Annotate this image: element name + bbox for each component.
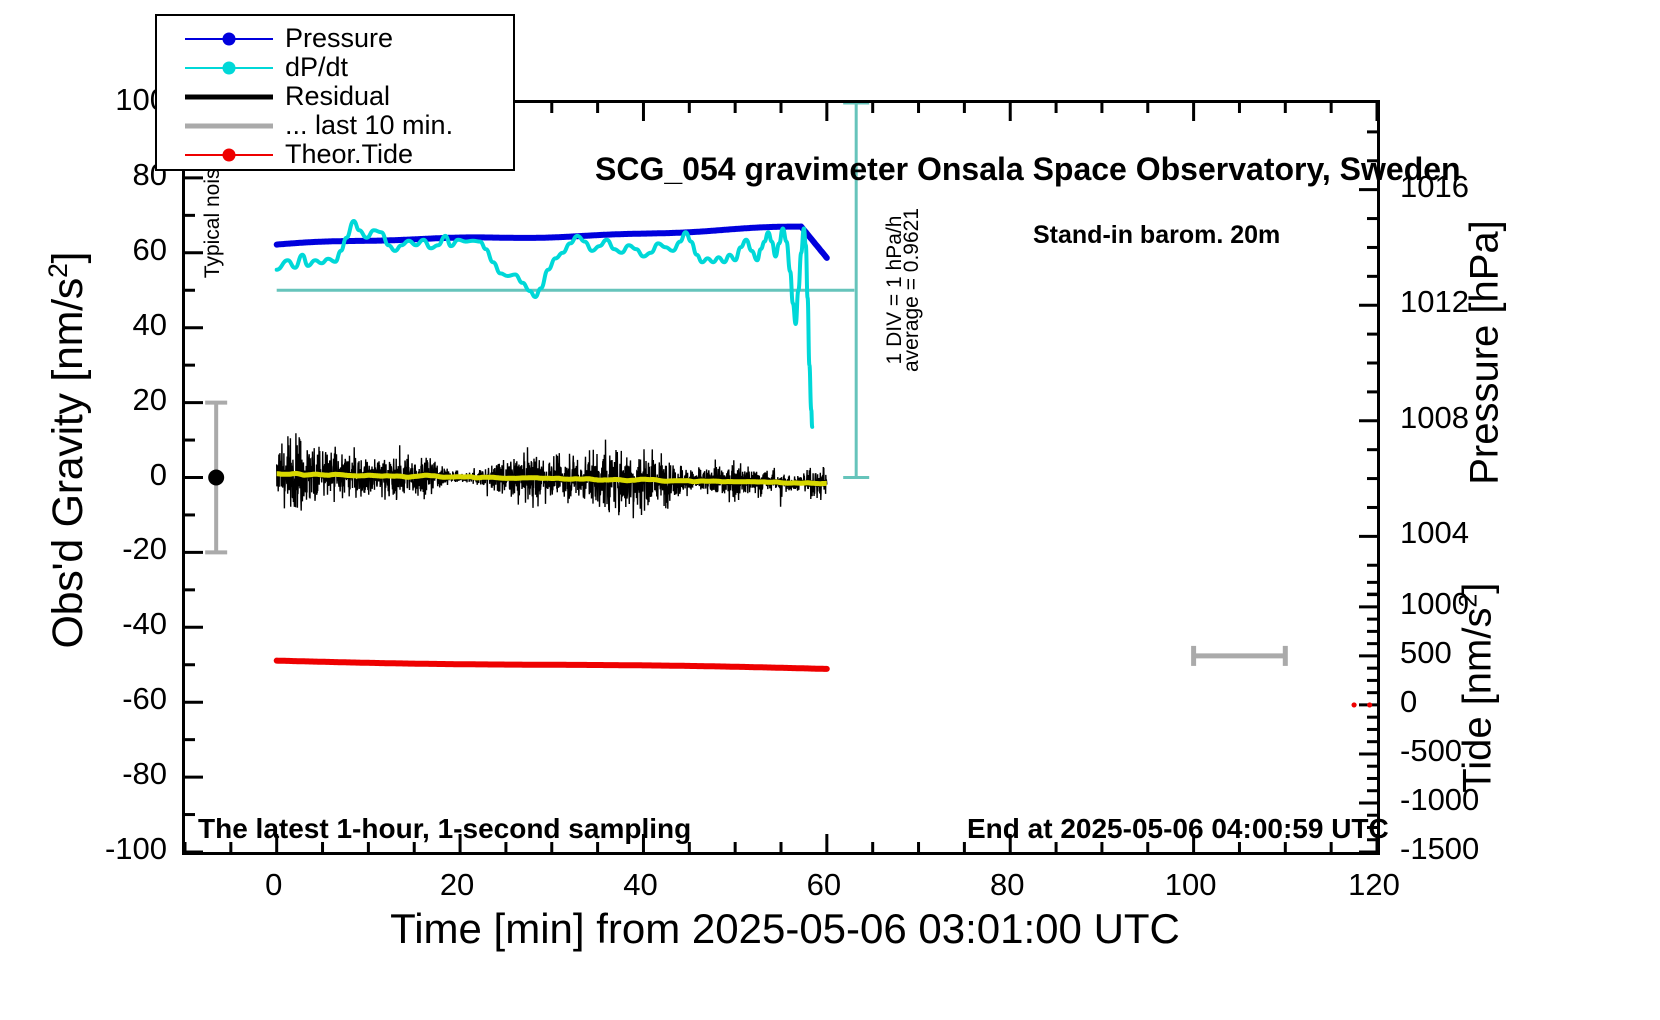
y-ticklabel-left: -20 — [62, 531, 167, 567]
legend-item-label: ... last 10 min. — [285, 110, 453, 141]
chart-title: SCG_054 gravimeter Onsala Space Observat… — [595, 151, 1461, 188]
x-ticklabel: 100 — [1165, 867, 1217, 903]
noise-center-dot — [208, 470, 224, 486]
plot-area: SCG_054 gravimeter Onsala Space Observat… — [182, 100, 1380, 855]
legend-item-dp-dt[interactable]: dP/dt — [157, 53, 513, 82]
legend-item-pressure[interactable]: Pressure — [157, 24, 513, 53]
x-ticklabel: 0 — [265, 867, 282, 903]
y-ticklabel-right-pressure: 1004 — [1400, 515, 1469, 551]
x-axis-title-text: Time [min] from 2025-05-06 03:01:00 UTC — [390, 905, 1180, 952]
legend-marker-icon — [223, 61, 236, 74]
y-ticklabel-right-tide: -1000 — [1400, 782, 1479, 818]
y-ticklabel-right-tide: 1000 — [1400, 586, 1469, 622]
y-ticklabel-left: 100 — [62, 82, 167, 118]
series-dpdt — [277, 221, 813, 427]
x-ticklabel: 60 — [807, 867, 841, 903]
legend-swatch-icon — [185, 24, 273, 53]
y-ticklabel-right-tide: 500 — [1400, 635, 1452, 671]
y-ticklabel-left: -100 — [62, 831, 167, 867]
sampling-note: The latest 1-hour, 1-second sampling — [198, 813, 691, 845]
legend[interactable]: PressuredP/dtResidual... last 10 min.The… — [155, 14, 515, 171]
legend-item-residual[interactable]: Residual — [157, 82, 513, 111]
legend-swatch-icon — [185, 140, 273, 169]
y-ticklabel-left: 20 — [62, 382, 167, 418]
y-ticklabel-left: 60 — [62, 232, 167, 268]
legend-item-theor-tide[interactable]: Theor.Tide — [157, 140, 513, 169]
dpdt-average-label: average = 0.9621 — [900, 175, 924, 405]
y-ticklabel-left: -40 — [62, 606, 167, 642]
y-ticklabel-right-tide: -1500 — [1400, 831, 1479, 867]
legend-swatch-icon — [185, 111, 273, 140]
legend-item-label: Residual — [285, 81, 390, 112]
y-axis-right-pressure-title-text: Pressure [hPa] — [1463, 220, 1507, 485]
y-ticklabel-left: -60 — [62, 681, 167, 717]
tide-zero-marker-a — [1351, 702, 1356, 707]
legend-swatch-icon — [185, 82, 273, 111]
legend-line-icon — [185, 94, 273, 99]
y-ticklabel-left: -80 — [62, 756, 167, 792]
end-time-note: End at 2025-05-06 04:00:59 UTC — [967, 813, 1389, 845]
standin-barom-annotation: Stand-in barom. 20m — [1033, 221, 1280, 250]
y-ticklabel-right-pressure: 1012 — [1400, 284, 1469, 320]
y-ticklabel-right-pressure: 1008 — [1400, 400, 1469, 436]
data-plot-svg — [185, 103, 1377, 852]
series-theor-tide — [277, 661, 827, 669]
y-ticklabel-left: 40 — [62, 307, 167, 343]
legend-item-last-10-min[interactable]: ... last 10 min. — [157, 111, 513, 140]
x-ticklabel: 20 — [440, 867, 474, 903]
tide-zero-marker-b — [1367, 702, 1372, 707]
y-ticklabel-right-tide: 0 — [1400, 684, 1417, 720]
x-axis-title: Time [min] from 2025-05-06 03:01:00 UTC — [180, 905, 1390, 953]
legend-item-label: dP/dt — [285, 52, 348, 83]
y-ticklabel-right-tide: -500 — [1400, 733, 1462, 769]
y-ticklabel-left: 0 — [62, 457, 167, 493]
x-ticklabel: 120 — [1348, 867, 1400, 903]
legend-marker-icon — [223, 32, 236, 45]
x-ticklabel: 80 — [990, 867, 1024, 903]
chart-canvas: Obs'd Gravity [nm/s2] Pressure [hPa] Tid… — [0, 0, 1660, 1020]
legend-swatch-icon — [185, 53, 273, 82]
y-ticklabel-left: 80 — [62, 157, 167, 193]
y-axis-right-tide-title-text: Tide [nm/s — [1456, 608, 1500, 793]
legend-item-label: Pressure — [285, 23, 393, 54]
legend-marker-icon — [223, 148, 236, 161]
x-ticklabel: 40 — [623, 867, 657, 903]
legend-item-label: Theor.Tide — [285, 139, 413, 170]
legend-line-icon — [185, 123, 273, 128]
